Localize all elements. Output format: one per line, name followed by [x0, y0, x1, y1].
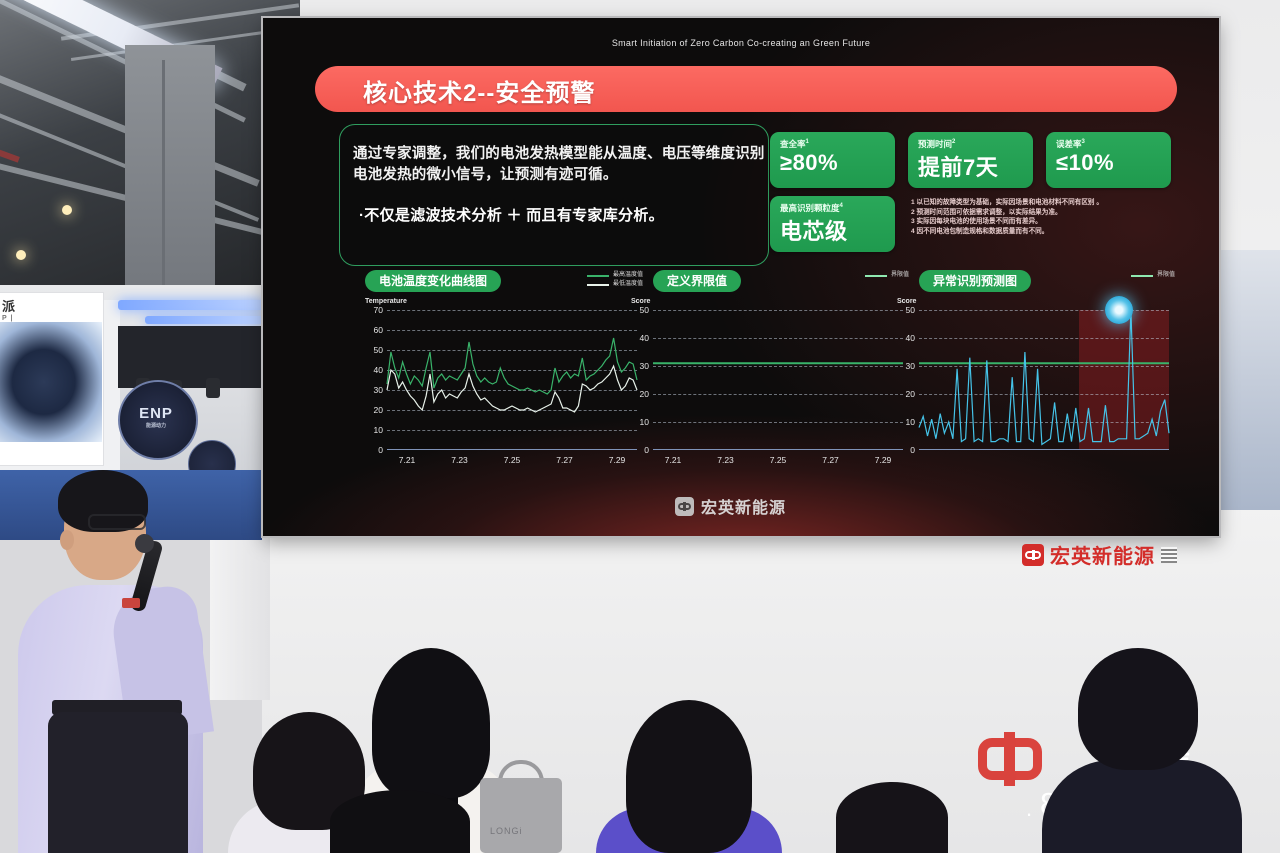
kpi-value: 提前7天 [918, 150, 998, 182]
y-axis-tick: 0 [644, 445, 649, 455]
kpi-card-leadtime: 预测时间2 提前7天 [908, 132, 1033, 188]
chart-series-svg [387, 310, 637, 450]
booth-led-strip-2 [145, 316, 265, 324]
slide-footnotes: 1 以已知的故障类型为基础，实际因场景和电池材料不同有区别 。 2 预测时间范围… [911, 198, 1176, 236]
y-axis-tick: 20 [640, 389, 649, 399]
series-line [387, 338, 637, 394]
chart-title: 定义界限值 [653, 270, 741, 292]
footnote-3: 3 实际因每块电池的使用场景不同而有差异。 [911, 217, 1176, 227]
y-axis-tick: 10 [640, 417, 649, 427]
chart-temperature-curve: 电池温度变化曲线图 最高温度值 最低温度值 Temperature 010203… [365, 266, 643, 478]
kpi-value: ≤10% [1056, 150, 1114, 176]
handbag-label: LONGi [490, 826, 523, 836]
audience-member-1-hair [372, 648, 490, 798]
y-axis-tick: 0 [378, 445, 383, 455]
neighbor-panel-subtitle: P | [2, 315, 15, 322]
y-axis-tick: 30 [906, 361, 915, 371]
x-axis-tick: 7.23 [717, 455, 734, 465]
chart-series-svg [653, 310, 903, 450]
chart-title: 电池温度变化曲线图 [365, 270, 501, 292]
y-axis-tick: 40 [374, 365, 383, 375]
chart-legend: 界限值 [1131, 271, 1175, 280]
y-axis-tick: 40 [906, 333, 915, 343]
y-axis-tick: 50 [374, 345, 383, 355]
kpi-label: 最高识别颗粒度4 [780, 202, 843, 214]
chart-y-axis-label: Temperature [365, 298, 407, 305]
chart-series-svg [919, 310, 1169, 450]
kpi-label: 预测时间2 [918, 138, 955, 150]
chart-y-axis-label: Score [897, 298, 916, 305]
legend-swatch-threshold [865, 275, 887, 277]
presenter-glasses-icon [88, 514, 146, 530]
tradeshow-presentation-photo: 派 P | ENP 能源动力 Smart Initiation of Zero … [0, 0, 1280, 853]
series-line [919, 310, 1169, 444]
neighbor-booth-product-image [0, 322, 102, 442]
x-axis-tick: 7.29 [609, 455, 626, 465]
chart-title: 异常识别预测图 [919, 270, 1031, 292]
neighbor-panel-title: 派 [2, 299, 15, 314]
chart-anomaly-prediction: 异常识别预测图 界限值 Score 01020304050 [897, 266, 1175, 478]
chart-plot-area: 01020304050 [919, 310, 1169, 450]
wall-brand-logo: 宏英新能源 [1022, 540, 1177, 569]
kpi-card-granularity: 最高识别颗粒度4 电芯级 [770, 196, 895, 252]
audience-member-6-body [1042, 760, 1242, 853]
chart-plot-area: 0102030405060707.217.237.257.277.29 [387, 310, 637, 450]
enp-logo-sublabel: 能源动力 [124, 422, 188, 429]
brand-name: 宏英新能源 [1050, 540, 1155, 569]
large-brand-mark-icon [978, 728, 1042, 790]
footnote-2: 2 预测时间范围可依据需求调整，以实际结果为准。 [911, 208, 1176, 218]
kpi-label: 误差率3 [1056, 138, 1085, 150]
y-axis-tick: 30 [640, 361, 649, 371]
description-paragraph: 通过专家调整，我们的电池发热模型能从温度、电压等维度识别电池发热的微小信号，让预… [353, 144, 765, 186]
anomaly-marker [1105, 296, 1133, 324]
presenter-ear [60, 530, 74, 550]
audience-member-4-hair [626, 700, 752, 853]
booth-sign-prefix: . [1026, 796, 1032, 822]
x-axis-tick: 7.21 [665, 455, 682, 465]
kpi-value: ≥80% [780, 150, 838, 176]
y-axis-tick: 20 [374, 405, 383, 415]
company-logo-icon [675, 497, 694, 516]
ceiling-panel [125, 45, 215, 295]
audience-member-5-hair [836, 782, 948, 853]
y-axis-tick: 0 [910, 445, 915, 455]
legend-swatch-threshold [1131, 275, 1153, 277]
enp-logo-text: ENP 能源动力 [124, 405, 188, 429]
company-name: 宏英新能源 [701, 494, 786, 518]
y-axis-tick: 10 [374, 425, 383, 435]
y-axis-tick: 30 [374, 385, 383, 395]
kpi-card-recall: 查全率1 ≥80% [770, 132, 895, 188]
legend-swatch-min [587, 284, 609, 286]
legend-label-threshold: 界限值 [1157, 271, 1175, 280]
y-axis-tick: 50 [640, 305, 649, 315]
y-axis-tick: 20 [906, 389, 915, 399]
kpi-label: 查全率1 [780, 138, 809, 150]
slide-title: 核心技术2--安全预警 [363, 73, 595, 108]
y-axis-tick: 50 [906, 305, 915, 315]
support-pole [162, 60, 165, 295]
x-axis-tick: 7.23 [451, 455, 468, 465]
y-axis-tick: 40 [640, 333, 649, 343]
x-axis-tick: 7.29 [875, 455, 892, 465]
x-axis-tick: 7.21 [399, 455, 416, 465]
chart-plot-area: 010203040507.217.237.257.277.29 [653, 310, 903, 450]
y-axis-tick: 60 [374, 325, 383, 335]
handbag [480, 778, 562, 853]
slide-header-english: Smart Initiation of Zero Carbon Co-creat… [263, 38, 1219, 48]
footnote-1: 1 以已知的故障类型为基础，实际因场景和电池材料不同有区别 。 [911, 198, 1176, 208]
y-axis-tick: 10 [906, 417, 915, 427]
brand-logo-icon [1022, 544, 1044, 566]
y-axis-tick: 70 [374, 305, 383, 315]
description-bullet: ·不仅是滤波技术分析 ＋ 而且有专家库分析。 [359, 204, 767, 225]
kpi-card-error: 误差率3 ≤10% [1046, 132, 1171, 188]
chart-threshold-definition: 定义界限值 界限值 Score 010203040507.217.237.257… [631, 266, 909, 478]
x-axis-tick: 7.25 [504, 455, 521, 465]
x-axis-tick: 7.25 [770, 455, 787, 465]
x-axis-tick: 7.27 [822, 455, 839, 465]
chart-y-axis-label: Score [631, 298, 650, 305]
audience-member-6-hair [1078, 648, 1198, 770]
slide-footer-logo: 宏英新能源 [675, 494, 786, 518]
kpi-value: 电芯级 [780, 214, 848, 246]
x-axis-tick: 7.27 [556, 455, 573, 465]
booth-led-strip [118, 300, 264, 310]
neighbor-booth-panel-text: 派 P | [2, 296, 15, 322]
presentation-screen: Smart Initiation of Zero Carbon Co-creat… [263, 18, 1219, 536]
footnote-4: 4 因不同电池包制造规格和数据质量而有不同。 [911, 227, 1176, 237]
qr-code-icon [1161, 547, 1177, 563]
enp-logo-label: ENP [139, 405, 173, 422]
audience-member-3-hair [330, 790, 470, 853]
presenter-shirt-logo [122, 598, 140, 608]
legend-swatch-max [587, 275, 609, 277]
presenter-trousers [48, 712, 188, 853]
